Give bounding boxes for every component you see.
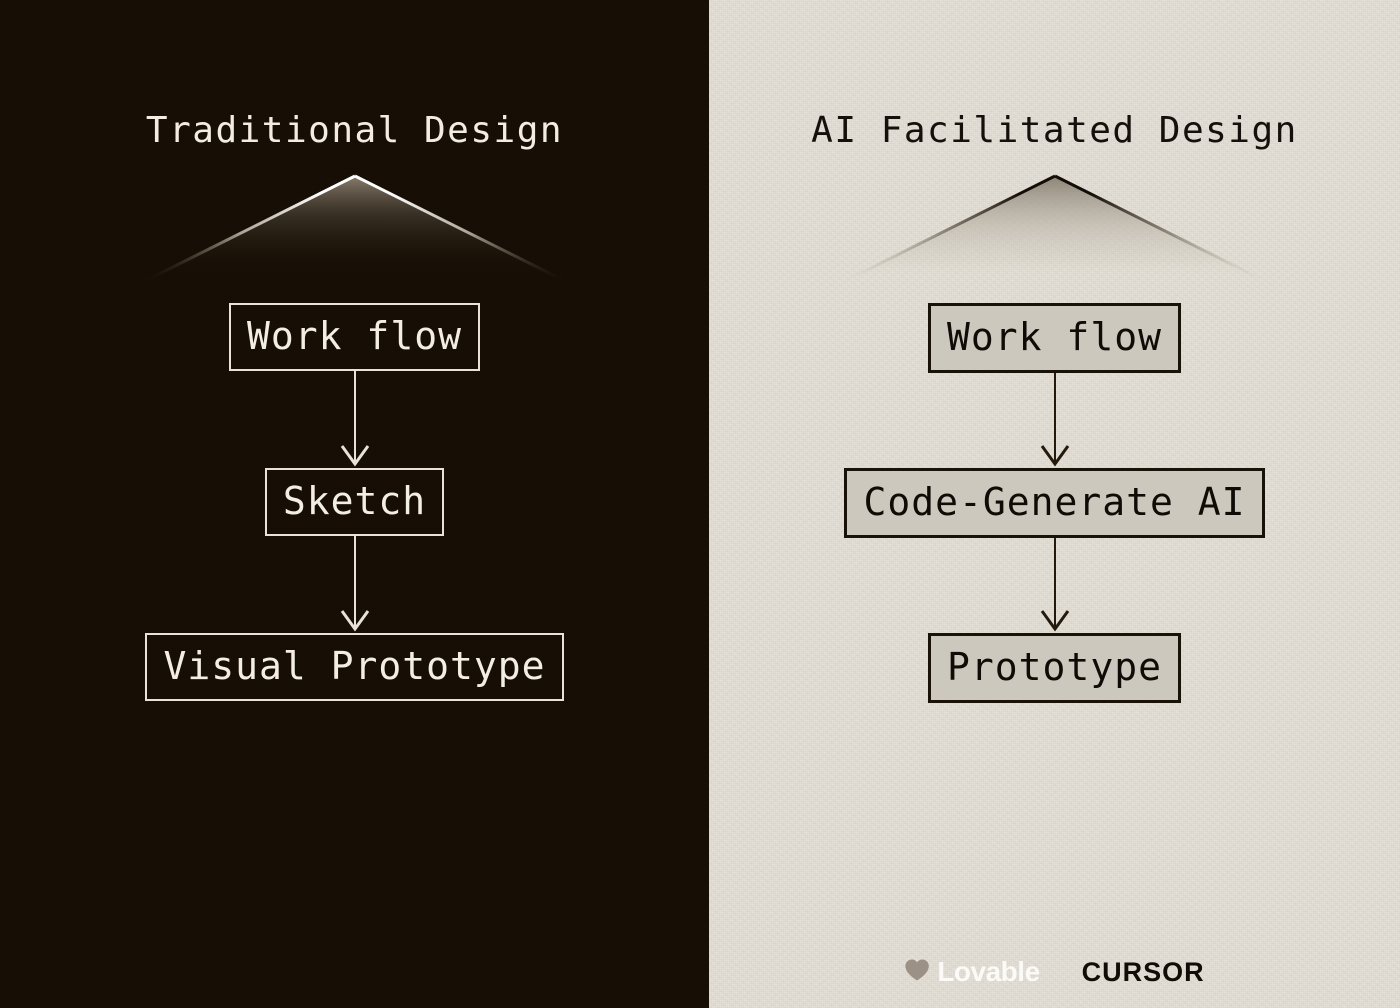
arrow-down-icon — [1035, 538, 1075, 633]
chevron-up-gradient-icon — [145, 170, 565, 285]
logo-lovable[interactable]: Lovable — [904, 958, 1039, 986]
flow-traditional: Work flow Sketch Visual Prototype — [0, 303, 709, 701]
logo-cursor[interactable]: CURSOR — [1082, 959, 1205, 986]
lovable-wordmark: Lovable — [937, 958, 1039, 986]
chevron-up-gradient-icon — [845, 170, 1265, 285]
cursor-wordmark: CURSOR — [1082, 957, 1205, 987]
flow-node-workflow[interactable]: Work flow — [928, 303, 1181, 373]
flow-ai-facilitated: Work flow Code-Generate AI Prototype — [709, 303, 1400, 703]
panel-ai-facilitated-design: AI Facilitated Design — [709, 0, 1400, 1008]
flow-node-prototype[interactable]: Prototype — [928, 633, 1181, 703]
panel-traditional-design: Traditional Design — [0, 0, 709, 1008]
arrow-down-icon — [1035, 373, 1075, 468]
arrow-down-icon — [335, 371, 375, 468]
footer-logos: Lovable CURSOR — [709, 958, 1400, 986]
flow-node-code-generate-ai[interactable]: Code-Generate AI — [844, 468, 1264, 538]
arrow-down-icon — [335, 536, 375, 633]
page-title-traditional: Traditional Design — [0, 110, 709, 151]
flow-node-sketch[interactable]: Sketch — [265, 468, 444, 536]
page-title-ai-facilitated: AI Facilitated Design — [709, 110, 1400, 151]
comparison-diagram: Traditional Design — [0, 0, 1400, 1008]
lovable-heart-icon — [904, 958, 930, 986]
flow-node-visual-prototype[interactable]: Visual Prototype — [145, 633, 563, 701]
flow-node-workflow[interactable]: Work flow — [229, 303, 480, 371]
